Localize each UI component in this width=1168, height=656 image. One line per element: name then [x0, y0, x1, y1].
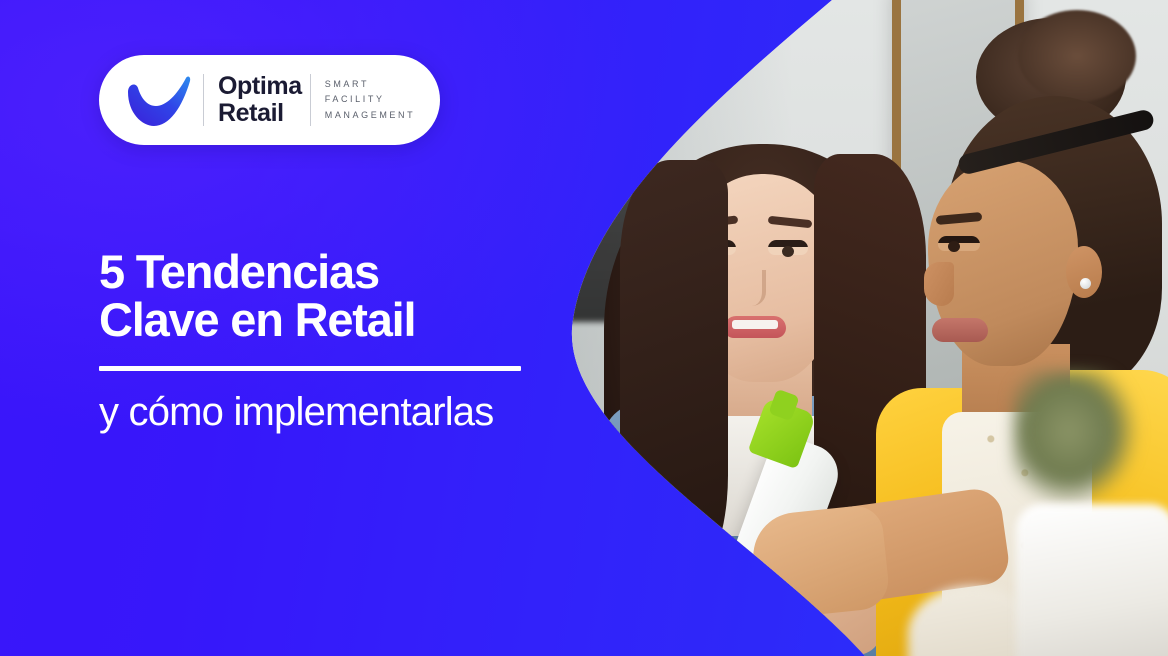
brand-name-line-1: Optima	[218, 73, 302, 100]
headline-block: 5 Tendencias Clave en Retail y cómo impl…	[99, 248, 569, 433]
marketing-banner: Optima Retail SMART FACILITY MANAGEMENT …	[0, 0, 1168, 656]
person-right-nose	[924, 262, 954, 306]
person-left-teeth	[732, 320, 778, 329]
brand-wordmark: Optima Retail	[218, 73, 302, 127]
tagline-line-2: FACILITY	[325, 92, 416, 107]
brand-name-line-2: Retail	[218, 100, 302, 127]
person-right-hair-bun-top	[1018, 10, 1136, 102]
headline-subtitle: y cómo implementarlas	[99, 391, 569, 433]
headline-title: 5 Tendencias Clave en Retail	[99, 248, 569, 344]
brand-logo[interactable]: Optima Retail SMART FACILITY MANAGEMENT	[99, 55, 440, 145]
logo-divider-left	[203, 74, 204, 126]
logo-divider-right	[310, 74, 311, 126]
checkmark-swoosh-icon	[121, 72, 195, 128]
headline-divider-rule	[99, 366, 521, 371]
person-right-lips	[932, 318, 988, 342]
person-right-ear	[1066, 246, 1102, 298]
person-left-pupil-right	[782, 246, 794, 257]
person-left-nose	[744, 270, 766, 306]
person-right-pupil	[948, 241, 960, 252]
foreground-plant	[1012, 370, 1138, 506]
brand-tagline: SMART FACILITY MANAGEMENT	[325, 77, 416, 123]
foreground-cup	[1016, 504, 1168, 656]
tagline-line-3: MANAGEMENT	[325, 108, 416, 123]
person-right-earring	[1080, 278, 1091, 289]
tagline-line-1: SMART	[325, 77, 416, 92]
